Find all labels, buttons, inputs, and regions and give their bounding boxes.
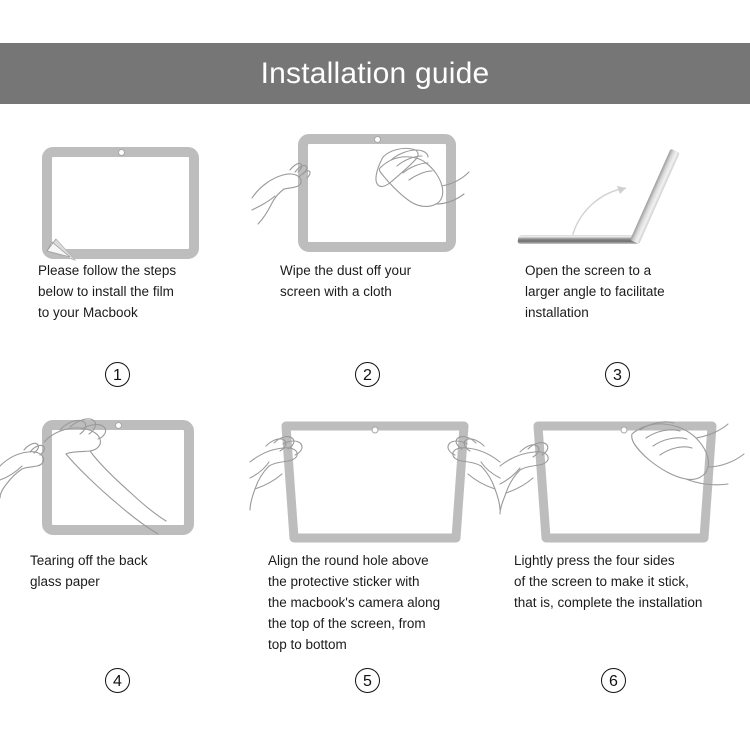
caption-line: Tearing off the back — [30, 550, 255, 571]
peeling-film-corner-icon — [0, 112, 250, 262]
step-panel-5: Align the round hole above the protectiv… — [250, 410, 500, 710]
step-3-illustration — [500, 112, 750, 254]
caption-line: Open the screen to a — [525, 260, 737, 281]
step-2-caption: Wipe the dust off your screen with a clo… — [280, 260, 492, 302]
caption-line: the macbook's camera along — [268, 592, 508, 613]
step-panel-1: Please follow the steps below to install… — [0, 112, 250, 410]
caption-line: below to install the film — [38, 281, 250, 302]
step-panel-2: Wipe the dust off your screen with a clo… — [250, 112, 500, 410]
caption-line: Lightly press the four sides — [514, 550, 750, 571]
aligning-hands-icon — [250, 410, 500, 560]
caption-line: larger angle to facilitate — [525, 281, 737, 302]
screen-frame-perspective — [538, 426, 712, 538]
step-5-caption: Align the round hole above the protectiv… — [268, 550, 508, 655]
step-number-badge: 4 — [105, 668, 130, 693]
step-1-caption: Please follow the steps below to install… — [38, 260, 250, 323]
caption-line: top to bottom — [268, 634, 508, 655]
step-4-caption: Tearing off the back glass paper — [30, 550, 255, 592]
caption-line: glass paper — [30, 571, 255, 592]
installation-steps-grid: Please follow the steps below to install… — [0, 112, 750, 710]
step-number-badge: 6 — [601, 668, 626, 693]
caption-line: Wipe the dust off your — [280, 260, 492, 281]
caption-line: of the screen to make it stick, — [514, 571, 750, 592]
header-bar: Installation guide — [0, 43, 750, 104]
step-panel-4: Tearing off the back glass paper 4 — [0, 410, 250, 710]
caption-line: installation — [525, 302, 737, 323]
camera-dot-icon — [372, 427, 378, 433]
open-lid-arc-icon — [500, 112, 750, 254]
step-5-illustration — [250, 410, 500, 546]
step-3-caption: Open the screen to a larger angle to fac… — [525, 260, 737, 323]
caption-line: screen with a cloth — [280, 281, 492, 302]
step-number-badge: 3 — [605, 362, 630, 387]
step-number-badge: 5 — [355, 668, 380, 693]
caption-line: to your Macbook — [38, 302, 250, 323]
caption-line: the top of the screen, from — [268, 613, 508, 634]
caption-line: Align the round hole above — [268, 550, 508, 571]
step-6-illustration — [500, 410, 750, 546]
step-number-badge: 2 — [355, 362, 380, 387]
wiping-hands-icon — [250, 112, 500, 262]
step-panel-6: Lightly press the four sides of the scre… — [500, 410, 750, 710]
screen-frame-perspective — [286, 426, 464, 538]
tearing-hands-icon — [0, 410, 250, 560]
laptop-base — [517, 235, 640, 244]
caption-line: Please follow the steps — [38, 260, 250, 281]
step-4-illustration — [0, 410, 250, 546]
step-panel-3: Open the screen to a larger angle to fac… — [500, 112, 750, 410]
page-title: Installation guide — [261, 59, 490, 89]
caption-line: that is, complete the installation — [514, 592, 750, 613]
caption-line: the protective sticker with — [268, 571, 508, 592]
step-number-badge: 1 — [105, 362, 130, 387]
camera-dot-icon — [621, 427, 627, 433]
step-2-illustration — [250, 112, 500, 254]
pressing-hands-icon — [500, 410, 750, 560]
step-6-caption: Lightly press the four sides of the scre… — [514, 550, 750, 613]
step-1-illustration — [0, 112, 250, 254]
